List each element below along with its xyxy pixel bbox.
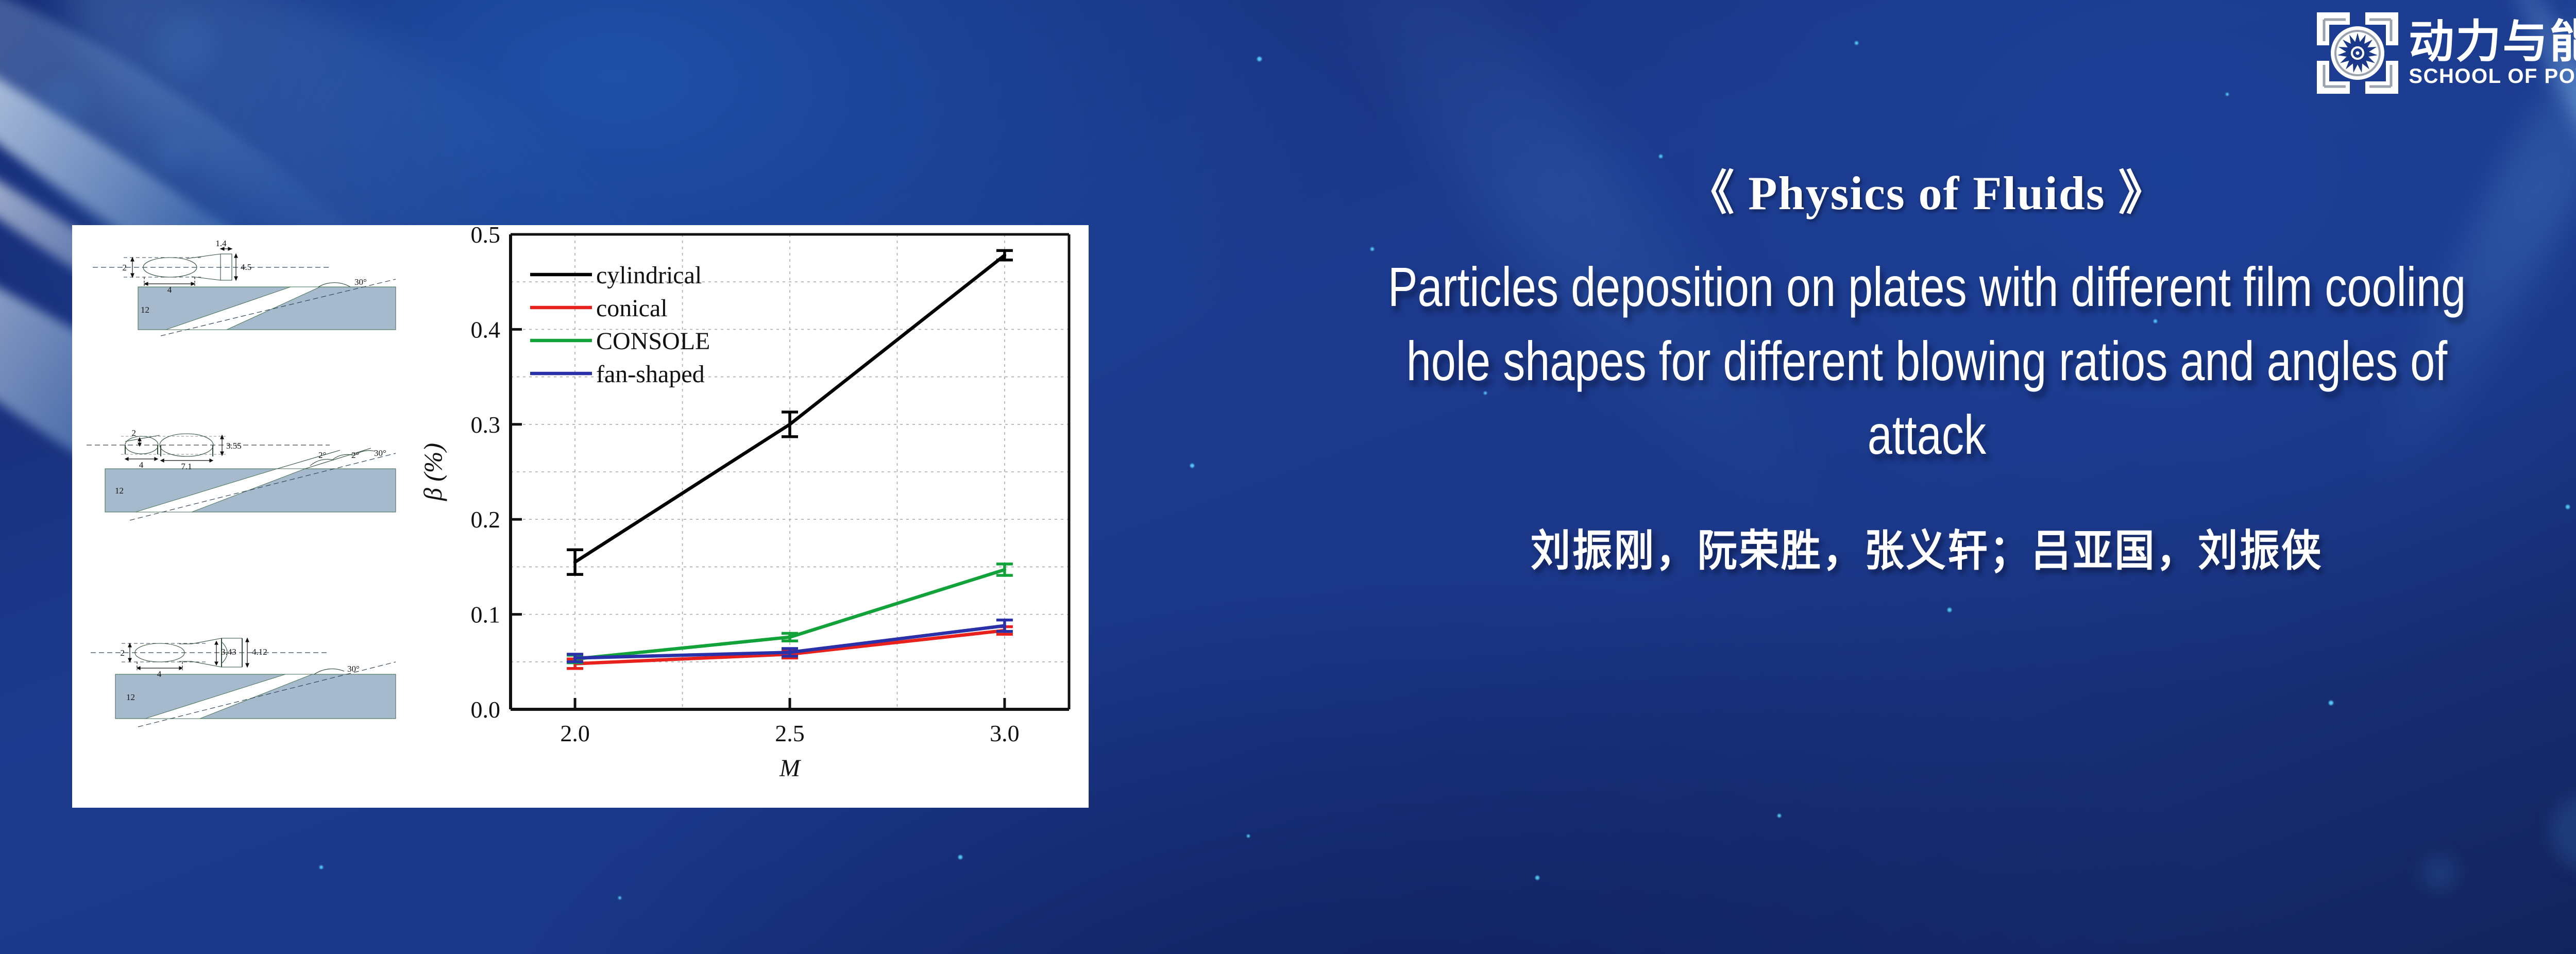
svg-text:M: M bbox=[779, 755, 802, 782]
svg-text:2: 2 bbox=[132, 428, 137, 438]
svg-text:4: 4 bbox=[167, 285, 172, 295]
svg-text:7.1: 7.1 bbox=[181, 462, 192, 471]
sparkle-dot bbox=[958, 855, 962, 859]
svg-text:2.0: 2.0 bbox=[560, 720, 590, 746]
sparkle-dot bbox=[1247, 834, 1250, 838]
svg-text:CONSOLE: CONSOLE bbox=[596, 328, 710, 355]
svg-text:3.55: 3.55 bbox=[226, 441, 242, 451]
svg-text:3.43: 3.43 bbox=[221, 647, 236, 657]
svg-text:0.3: 0.3 bbox=[471, 412, 501, 438]
svg-text:0.4: 0.4 bbox=[471, 316, 501, 343]
sparkle-dot bbox=[1947, 608, 1952, 612]
deposition-chart: 0.00.10.20.30.40.52.02.53.0Mβ (%)cylindr… bbox=[404, 225, 1089, 808]
bokeh-circle bbox=[155, 134, 191, 170]
svg-text:30°: 30° bbox=[374, 448, 386, 458]
sparkle-dot bbox=[1535, 876, 1539, 880]
svg-text:2.5: 2.5 bbox=[775, 720, 805, 746]
svg-text:12: 12 bbox=[115, 486, 124, 496]
sparkle-dot bbox=[1190, 464, 1194, 468]
svg-text:0.0: 0.0 bbox=[471, 696, 501, 723]
sparkle-dot bbox=[1777, 814, 1781, 817]
sparkle-dot bbox=[2226, 93, 2229, 96]
sparkle-dot bbox=[618, 896, 621, 899]
svg-text:30°: 30° bbox=[347, 664, 360, 674]
bokeh-circle bbox=[41, 77, 88, 124]
console-hole-diagram: 2 3.55 4 7.1 12 2° 2° 30° bbox=[72, 408, 404, 609]
svg-text:3.0: 3.0 bbox=[990, 720, 1020, 746]
svg-text:1.4: 1.4 bbox=[215, 238, 227, 248]
svg-text:4.5: 4.5 bbox=[241, 262, 251, 272]
sparkle-dot bbox=[1370, 247, 1374, 251]
logo-english-name: SCHOOL OF POWER AND ENERGY bbox=[2409, 65, 2576, 88]
svg-text:2°: 2° bbox=[318, 450, 326, 460]
svg-text:2: 2 bbox=[123, 263, 127, 272]
fan-shaped-hole-diagram: 2 4 3.43 4.12 12 30° bbox=[72, 617, 404, 807]
svg-text:4.12: 4.12 bbox=[252, 647, 267, 657]
svg-text:12: 12 bbox=[141, 305, 149, 315]
svg-text:fan-shaped: fan-shaped bbox=[596, 361, 705, 388]
sparkle-dot bbox=[2154, 319, 2157, 323]
sparkle-dot bbox=[2329, 701, 2333, 705]
svg-text:β (%): β (%) bbox=[418, 443, 447, 501]
svg-text:12: 12 bbox=[126, 692, 135, 702]
svg-text:30°: 30° bbox=[354, 277, 367, 287]
svg-text:0.5: 0.5 bbox=[471, 225, 501, 248]
figure-panel: 1.4 4.5 2 4 12 30° bbox=[72, 225, 1089, 808]
bokeh-circle bbox=[2421, 855, 2458, 891]
sparkle-dot bbox=[319, 865, 323, 869]
svg-text:0.1: 0.1 bbox=[471, 602, 501, 628]
sparkle-dot bbox=[1855, 41, 1858, 45]
logo-chinese-name: 动力与能源学院 bbox=[2409, 19, 2576, 65]
svg-text:4: 4 bbox=[139, 460, 144, 470]
svg-text:0.2: 0.2 bbox=[471, 506, 501, 533]
svg-text:2°: 2° bbox=[351, 450, 359, 460]
svg-text:cylindrical: cylindrical bbox=[596, 262, 702, 289]
svg-text:conical: conical bbox=[596, 295, 668, 322]
sparkle-dot bbox=[1484, 391, 1487, 395]
bokeh-circle bbox=[155, 15, 216, 77]
school-logo: 动力与能源学院 SCHOOL OF POWER AND ENERGY bbox=[2314, 9, 2576, 97]
sparkle-dot bbox=[2566, 505, 2570, 509]
chart-svg: 0.00.10.20.30.40.52.02.53.0Mβ (%)cylindr… bbox=[404, 225, 1089, 808]
sparkle-dot bbox=[1257, 57, 1262, 61]
svg-text:2: 2 bbox=[121, 648, 125, 658]
cylindrical-hole-diagram: 1.4 4.5 2 4 12 30° bbox=[72, 230, 404, 408]
sparkle-dot bbox=[1659, 155, 1663, 158]
turbine-wheel-bracket-icon bbox=[2314, 9, 2401, 97]
svg-text:4: 4 bbox=[157, 669, 162, 679]
hole-geometry-diagrams: 1.4 4.5 2 4 12 30° bbox=[72, 225, 404, 808]
